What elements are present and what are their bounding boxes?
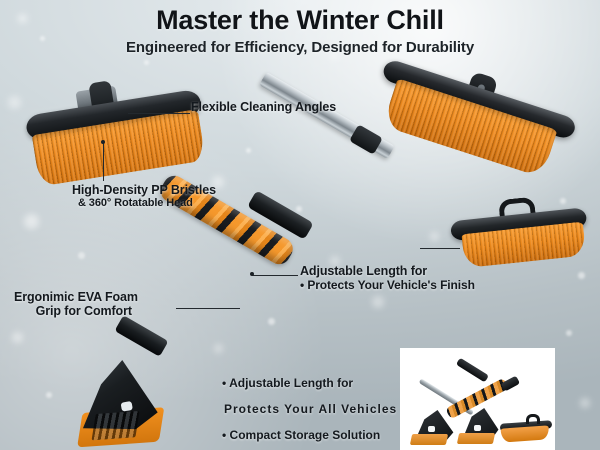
brush-head-left	[15, 64, 217, 197]
inset-scraper-blade-edge	[410, 434, 448, 445]
callout-line-2: Grip for Comfort	[14, 304, 138, 318]
snow-particle	[578, 272, 585, 279]
callout-line-1: Adjustable Length for	[300, 264, 475, 278]
inset-pole-end-cap	[456, 358, 489, 383]
callout-high-density-bristles: High-Density PP Bristles & 360° Rotatabl…	[72, 183, 216, 209]
snow-particle	[144, 60, 149, 65]
page-subtitle: Engineered for Efficiency, Designed for …	[0, 37, 600, 59]
callout-ergonomic-grip: Ergonimic EVA Foam Grip for Comfort	[14, 290, 138, 318]
snow-particle	[566, 330, 572, 336]
ice-scraper-head	[73, 355, 175, 450]
snow-particle	[430, 232, 439, 241]
bullet-item: Protects Your All Vehicles	[222, 396, 397, 422]
leader-line-grip	[176, 308, 240, 309]
infographic-canvas: Master the Winter Chill Engineered for E…	[0, 0, 600, 450]
callout-line-1: Ergonimic EVA Foam	[14, 290, 138, 304]
leader-line-flexible	[128, 113, 190, 114]
bullet-item: • Compact Storage Solution	[222, 422, 397, 448]
inset-brush-bristles	[501, 425, 550, 442]
feature-bullet-list: • Adjustable Length for Protects Your Al…	[222, 370, 397, 448]
snow-particle	[296, 206, 302, 212]
snow-particle	[372, 296, 384, 308]
leader-line-right-brush	[420, 248, 460, 249]
snow-particle	[246, 148, 251, 153]
inset-brush-clamp-icon	[526, 414, 540, 424]
snow-particle	[12, 332, 23, 343]
bullet-item: • Adjustable Length for	[222, 370, 397, 396]
inset-scraper-blade-edge	[457, 433, 495, 444]
handle-lower-segment	[114, 315, 168, 357]
callout-flexible-cleaning-angles: Flexible Cleaning Angles	[191, 100, 336, 114]
callout-line-2: • Protects Your Vehicle's Finish	[300, 278, 475, 292]
inset-scraper-hang-hole	[474, 425, 481, 431]
leader-dot-adjustable	[250, 272, 254, 276]
snow-particle	[268, 318, 275, 325]
inset-grip-end-cap	[501, 376, 520, 392]
leader-line-bristles	[103, 143, 104, 181]
product-parts-inset	[400, 348, 555, 450]
callout-line-1: Flexible Cleaning Angles	[191, 100, 336, 114]
brush-head-main	[358, 33, 590, 210]
callout-adjustable-length: Adjustable Length for • Protects Your Ve…	[300, 264, 475, 292]
page-title: Master the Winter Chill	[0, 0, 600, 37]
snow-particle	[46, 392, 52, 398]
leader-dot-bristles	[101, 140, 105, 144]
callout-line-2: & 360° Rotatable Head	[72, 197, 216, 209]
header-block: Master the Winter Chill Engineered for E…	[0, 0, 600, 59]
leader-line-adjustable	[252, 275, 298, 276]
snow-particle	[580, 398, 590, 408]
inset-scraper-hang-hole	[428, 426, 435, 432]
snow-particle	[214, 344, 223, 353]
snow-particle	[78, 252, 85, 259]
scraper-ice-teeth	[92, 411, 140, 440]
snow-particle	[24, 214, 39, 229]
callout-line-1: High-Density PP Bristles	[72, 183, 216, 197]
